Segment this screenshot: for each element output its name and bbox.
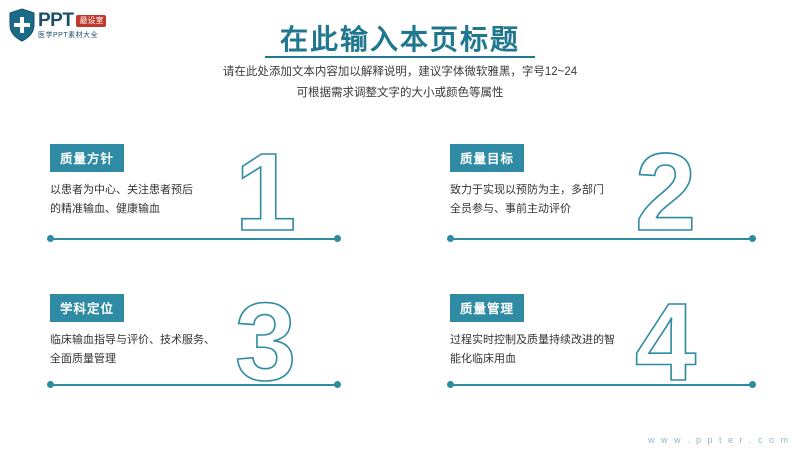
card-1: 1 质量方针 以患者为中心、关注患者预后 的精准输血、健康输血	[50, 144, 350, 220]
card-3-dot-left	[47, 381, 54, 388]
card-2-rule	[450, 238, 755, 240]
card-3-tag: 学科定位	[50, 294, 124, 322]
card-4-dot-right	[749, 381, 756, 388]
card-3-dot-right	[334, 381, 341, 388]
card-3-line-2: 全面质量管理	[50, 350, 350, 369]
card-3-line-1: 临床输血指导与评价、技术服务、	[50, 331, 350, 350]
page-subtitle: 请在此处添加文本内容加以解释说明，建议字体微软雅黑，字号12~24 可根据需求调…	[0, 62, 800, 105]
page-title: 在此输入本页标题	[0, 18, 800, 58]
card-1-tag: 质量方针	[50, 144, 124, 172]
card-4-body: 过程实时控制及质量持续改进的智 能化临床用血	[450, 331, 750, 370]
subtitle-line-1: 请在此处添加文本内容加以解释说明，建议字体微软雅黑，字号12~24	[0, 62, 800, 83]
footer: w w w . p p t e r . c o m	[0, 428, 800, 450]
card-2-dot-left	[447, 235, 454, 242]
card-1-rule	[50, 238, 340, 240]
card-4-tag: 质量管理	[450, 294, 524, 322]
card-4-line-1: 过程实时控制及质量持续改进的智	[450, 331, 750, 350]
card-2-body: 致力于实现以预防为主，多部门 全员参与、事前主动评价	[450, 181, 750, 220]
card-1-line-2: 的精准输血、健康输血	[50, 200, 350, 219]
card-1-line-1: 以患者为中心、关注患者预后	[50, 181, 350, 200]
card-4-line-2: 能化临床用血	[450, 350, 750, 369]
card-3-body: 临床输血指导与评价、技术服务、 全面质量管理	[50, 331, 350, 370]
card-1-body: 以患者为中心、关注患者预后 的精准输血、健康输血	[50, 181, 350, 220]
card-1-dot-left	[47, 235, 54, 242]
footer-watermark: w w w . p p t e r . c o m	[648, 435, 790, 445]
card-4-dot-left	[447, 381, 454, 388]
card-4-rule	[450, 384, 755, 386]
card-4: 4 质量管理 过程实时控制及质量持续改进的智 能化临床用血	[450, 294, 750, 370]
title-underline	[265, 56, 535, 58]
card-3-rule	[50, 384, 340, 386]
card-1-dot-right	[334, 235, 341, 242]
card-2-line-2: 全员参与、事前主动评价	[450, 200, 750, 219]
card-2-tag: 质量目标	[450, 144, 524, 172]
card-2-line-1: 致力于实现以预防为主，多部门	[450, 181, 750, 200]
subtitle-line-2: 可根据需求调整文字的大小或颜色等属性	[0, 83, 800, 104]
card-2: 2 质量目标 致力于实现以预防为主，多部门 全员参与、事前主动评价	[450, 144, 750, 220]
card-3: 3 学科定位 临床输血指导与评价、技术服务、 全面质量管理	[50, 294, 350, 370]
card-2-dot-right	[749, 235, 756, 242]
